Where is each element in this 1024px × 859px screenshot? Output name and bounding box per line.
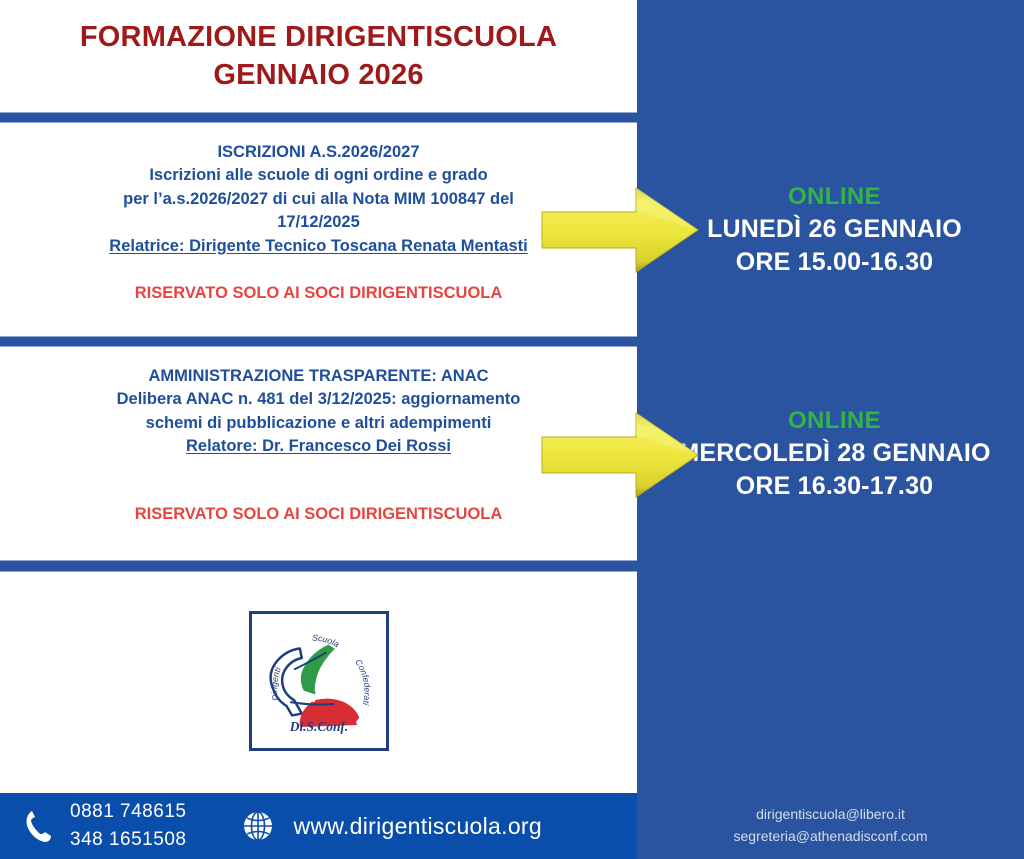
schedule-1-time: ORE 15.00-16.30 xyxy=(736,248,934,277)
course-panel-2: AMMINISTRAZIONE TRASPARENTE: ANAC Delibe… xyxy=(0,347,637,560)
phone-icon xyxy=(22,806,56,846)
course-1-speaker: Relatrice: Dirigente Tecnico Toscana Ren… xyxy=(109,235,527,258)
logo-panel: Dirigenti Scuola Confederati Di.S.Conf. xyxy=(0,572,637,789)
course-2-line-3: schemi di pubblicazione e altri adempime… xyxy=(146,412,492,435)
footer-email-area: dirigentiscuola@libero.it segreteria@ath… xyxy=(637,793,1024,859)
separator-band-2 xyxy=(0,336,637,347)
globe-icon xyxy=(241,809,275,843)
schedule-1-day: LUNEDÌ 26 GENNAIO xyxy=(707,215,962,244)
course-panel-1: ISCRIZIONI A.S.2026/2027 Iscrizioni alle… xyxy=(0,123,637,336)
course-1-line-1: ISCRIZIONI A.S.2026/2027 xyxy=(217,141,419,164)
footer-contact-bar: 0881 748615 348 1651508 www.dirigentiscu… xyxy=(0,793,637,859)
disconf-logo: Dirigenti Scuola Confederati Di.S.Conf. xyxy=(249,611,389,751)
logo-arc-word-right: Confederati xyxy=(353,657,372,707)
website-url[interactable]: www.dirigentiscuola.org xyxy=(293,813,542,840)
email-address-2[interactable]: segreteria@athenadisconf.com xyxy=(734,826,928,848)
logo-acronym: Di.S.Conf. xyxy=(288,718,347,733)
phone-number-2: 348 1651508 xyxy=(70,826,186,855)
schedule-block-2: ONLINE MERCOLEDÌ 28 GENNAIO ORE 16.30-17… xyxy=(645,347,1024,560)
svg-text:Confederati: Confederati xyxy=(353,657,372,707)
course-1-reserved-notice: RISERVATO SOLO AI SOCI DIRIGENTISCUOLA xyxy=(135,284,503,303)
separator-band-1 xyxy=(0,112,637,123)
course-2-line-1: AMMINISTRAZIONE TRASPARENTE: ANAC xyxy=(148,365,488,388)
page-title-line-1: FORMAZIONE DIRIGENTISCUOLA xyxy=(80,22,557,52)
schedule-1-mode: ONLINE xyxy=(788,183,881,211)
header-panel: FORMAZIONE DIRIGENTISCUOLA GENNAIO 2026 xyxy=(0,0,637,112)
poster-root: FORMAZIONE DIRIGENTISCUOLA GENNAIO 2026 … xyxy=(0,0,1024,859)
schedule-2-mode: ONLINE xyxy=(788,407,881,435)
course-1-line-4: 17/12/2025 xyxy=(277,211,360,234)
separator-band-3 xyxy=(0,560,637,572)
course-1-line-2: Iscrizioni alle scuole di ogni ordine e … xyxy=(149,164,487,187)
course-1-line-3: per l’a.s.2026/2027 di cui alla Nota MIM… xyxy=(123,188,514,211)
email-address-1[interactable]: dirigentiscuola@libero.it xyxy=(756,804,905,826)
footer: 0881 748615 348 1651508 www.dirigentiscu… xyxy=(0,793,1024,859)
schedule-2-day: MERCOLEDÌ 28 GENNAIO xyxy=(678,439,990,468)
course-2-reserved-notice: RISERVATO SOLO AI SOCI DIRIGENTISCUOLA xyxy=(135,505,503,524)
page-title-line-2: GENNAIO 2026 xyxy=(213,60,423,90)
phone-numbers: 0881 748615 348 1651508 xyxy=(70,798,186,855)
schedule-2-time: ORE 16.30-17.30 xyxy=(736,472,934,501)
course-2-line-2: Delibera ANAC n. 481 del 3/12/2025: aggi… xyxy=(117,388,521,411)
schedule-block-1: ONLINE LUNEDÌ 26 GENNAIO ORE 15.00-16.30 xyxy=(645,123,1024,336)
course-2-speaker: Relatore: Dr. Francesco Dei Rossi xyxy=(186,435,451,458)
phone-number-1: 0881 748615 xyxy=(70,798,186,827)
